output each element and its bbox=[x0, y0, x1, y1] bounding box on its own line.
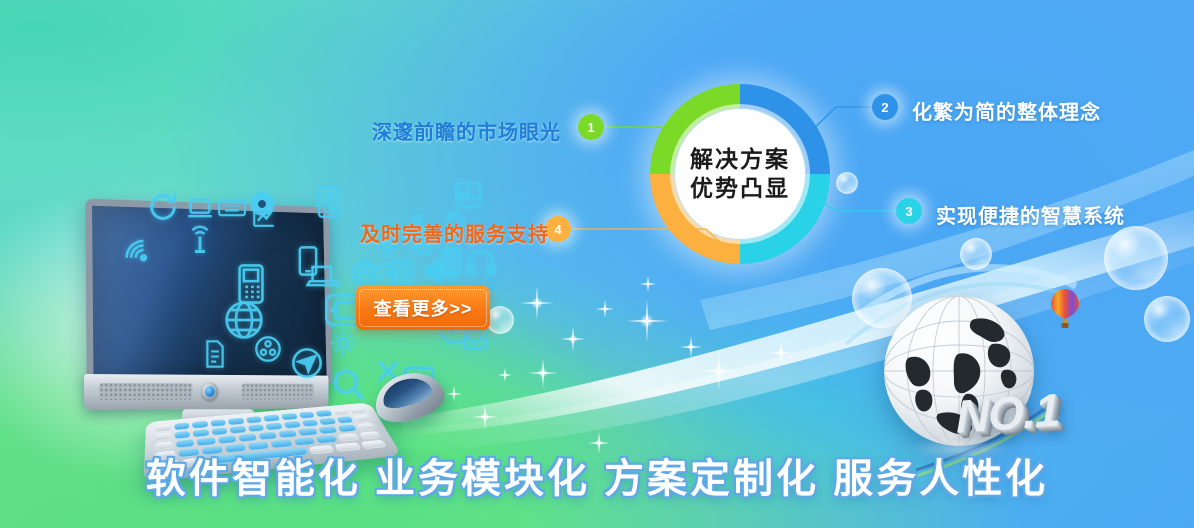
badge-3[interactable]: 3 bbox=[896, 198, 922, 224]
promo-banner: NO.1 解决方案 优势凸显 1 2 3 4 深邃前瞻的市场眼光 化繁为简的整体… bbox=[0, 0, 1194, 528]
bubble-decoration bbox=[1144, 296, 1190, 342]
monitor-chin bbox=[84, 374, 328, 410]
bubble-decoration bbox=[486, 306, 514, 334]
power-button-icon[interactable] bbox=[201, 382, 218, 400]
document-icon bbox=[204, 340, 226, 368]
bubble-decoration bbox=[836, 172, 858, 194]
keyboard-icon bbox=[218, 196, 246, 218]
volume-icon bbox=[424, 258, 458, 284]
speaker-grille-right bbox=[242, 384, 314, 400]
mobile-phone-icon bbox=[238, 264, 264, 304]
settings-gear-icon bbox=[330, 330, 356, 356]
globe-network-icon bbox=[224, 300, 264, 340]
graph-icon bbox=[253, 205, 275, 227]
send-icon bbox=[292, 348, 322, 378]
feature-label-3: 实现便捷的智慧系统 bbox=[936, 200, 1125, 229]
wifi-tower-icon bbox=[186, 224, 214, 254]
bubble-decoration bbox=[1104, 226, 1168, 290]
feature-label-2: 化繁为简的整体理念 bbox=[912, 96, 1101, 125]
badge-2[interactable]: 2 bbox=[872, 94, 898, 120]
headphones-icon bbox=[466, 250, 496, 276]
donut-center-line-2: 优势凸显 bbox=[690, 174, 790, 203]
donut-chart: 解决方案 优势凸显 bbox=[650, 84, 830, 264]
laptop-icon bbox=[186, 194, 214, 222]
search-magnifier-icon bbox=[332, 368, 366, 402]
bubble-decoration bbox=[960, 238, 992, 270]
badge-1[interactable]: 1 bbox=[578, 114, 604, 140]
view-more-button[interactable]: 查看更多>> bbox=[356, 286, 490, 330]
chart-icon bbox=[455, 182, 481, 208]
donut-center-line-1: 解决方案 bbox=[690, 145, 790, 174]
laptop-computer-icon bbox=[306, 262, 340, 290]
hot-air-balloon-icon bbox=[1050, 288, 1080, 330]
signal-icon bbox=[124, 238, 150, 262]
feature-label-4: 及时完善的服务支持 bbox=[360, 218, 549, 247]
speaker-icon bbox=[316, 186, 342, 218]
refresh-icon bbox=[146, 190, 180, 224]
speaker-grille-left bbox=[99, 383, 192, 400]
feature-label-1: 深邃前瞻的市场眼光 bbox=[372, 116, 561, 145]
view-more-label: 查看更多>> bbox=[373, 295, 472, 321]
film-reel-icon bbox=[255, 336, 281, 362]
donut-center-label: 解决方案 优势凸显 bbox=[674, 108, 806, 240]
rank-no1-text: NO.1 bbox=[956, 382, 1060, 443]
tagline-text: 软件智能化 业务模块化 方案定制化 服务人性化 bbox=[0, 446, 1194, 504]
